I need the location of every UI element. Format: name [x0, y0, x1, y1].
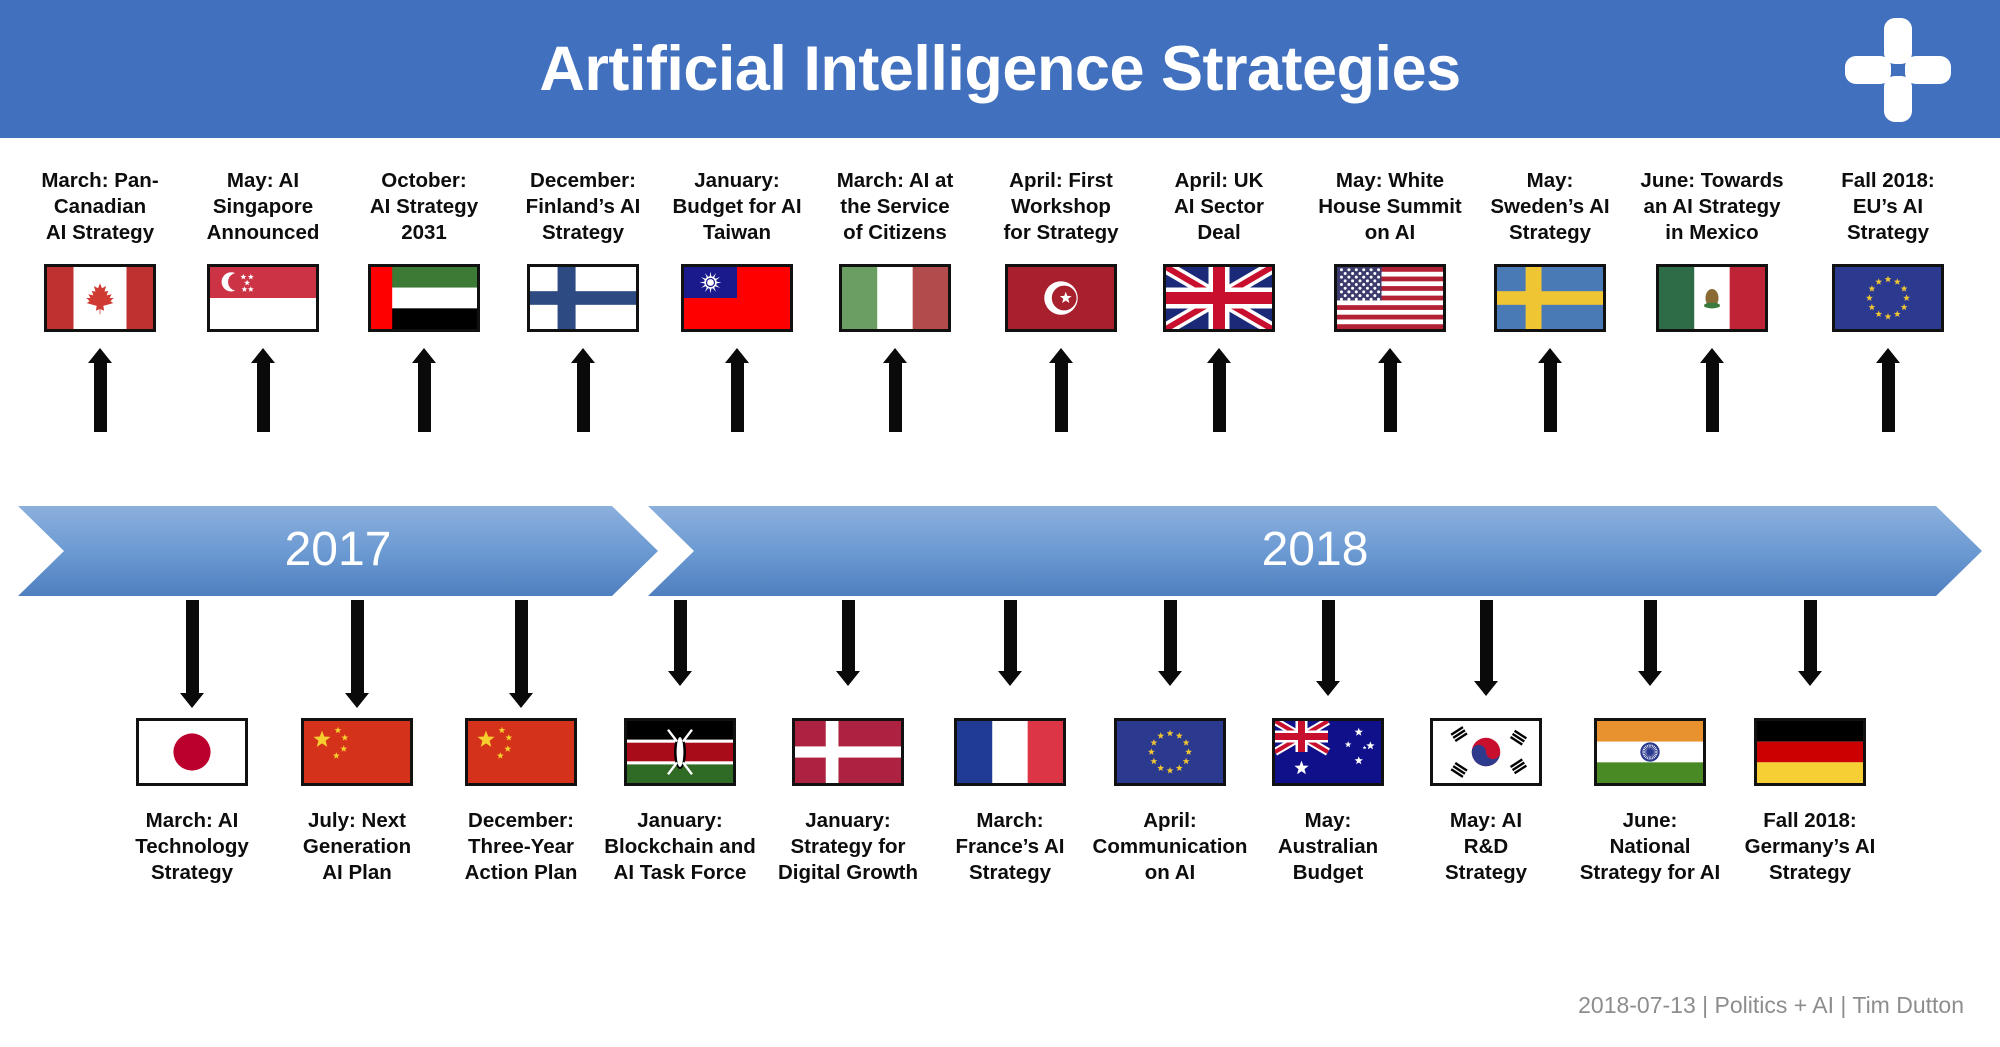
- flag-image-japan: [136, 718, 248, 786]
- arrow-up-icon: [1700, 348, 1724, 432]
- flag-canada: [44, 264, 156, 332]
- arrow-down-icon: [836, 600, 860, 686]
- event-label: April: UK AI Sector Deal: [1135, 168, 1303, 247]
- flag-image-canada: [44, 264, 156, 332]
- event-label: January: Budget for AI Taiwan: [653, 168, 821, 247]
- arrow-up-icon: [725, 348, 749, 432]
- flag-image-france: [954, 718, 1066, 786]
- flag-image-kenya: [624, 718, 736, 786]
- arrow-up-icon: [1049, 348, 1073, 432]
- flag-image-singapore: [207, 264, 319, 332]
- flag-image-india: [1594, 718, 1706, 786]
- arrow-up-icon: [1538, 348, 1562, 432]
- event-label: March: AI Technology Strategy: [108, 808, 276, 887]
- arrow-up-icon: [251, 348, 275, 432]
- event-label: April: Communication on AI: [1086, 808, 1254, 887]
- flag-tunisia: [1005, 264, 1117, 332]
- event-label: April: First Workshop for Strategy: [977, 168, 1145, 247]
- flag-image-taiwan: [681, 264, 793, 332]
- arrow-up-icon: [883, 348, 907, 432]
- arrow-down-icon: [998, 600, 1022, 686]
- event-label: May: Australian Budget: [1244, 808, 1412, 887]
- arrow-up-icon: [88, 348, 112, 432]
- event-label: July: Next Generation AI Plan: [273, 808, 441, 887]
- event-label: December: Finland’s AI Strategy: [499, 168, 667, 247]
- arrow-up-icon: [1876, 348, 1900, 432]
- flag-france: [954, 718, 1066, 786]
- flag-image-tunisia: [1005, 264, 1117, 332]
- timeline-segment-2018-label: 2018: [1262, 522, 1369, 577]
- event-label: March: Pan- Canadian AI Strategy: [16, 168, 184, 247]
- event-label: May: AI Singapore Announced: [179, 168, 347, 247]
- arrow-down-icon: [509, 600, 533, 708]
- footer-credit: 2018-07-13 | Politics + AI | Tim Dutton: [1578, 992, 1964, 1019]
- timeline-segment-2017-label: 2017: [285, 522, 392, 577]
- flag-image-china: [465, 718, 577, 786]
- flag-image-uae: [368, 264, 480, 332]
- flag-eu: [1114, 718, 1226, 786]
- flag-taiwan: [681, 264, 793, 332]
- event-label: March: AI at the Service of Citizens: [811, 168, 979, 247]
- flag-india: [1594, 718, 1706, 786]
- timeline-bar: 2017 2018: [0, 506, 2000, 596]
- flag-eu: [1832, 264, 1944, 332]
- flag-usa: [1334, 264, 1446, 332]
- flag-uk: [1163, 264, 1275, 332]
- flag-japan: [136, 718, 248, 786]
- event-label: January: Blockchain and AI Task Force: [596, 808, 764, 887]
- flag-germany: [1754, 718, 1866, 786]
- flag-image-denmark: [792, 718, 904, 786]
- events-above-row: March: Pan- Canadian AI Strategy May: AI…: [0, 168, 2000, 498]
- flag-image-germany: [1754, 718, 1866, 786]
- event-label: May: White House Summit on AI: [1306, 168, 1474, 247]
- flag-image-southkorea: [1430, 718, 1542, 786]
- arrow-up-icon: [1378, 348, 1402, 432]
- flag-image-uk: [1163, 264, 1275, 332]
- arrow-up-icon: [1207, 348, 1231, 432]
- flag-image-eu: [1832, 264, 1944, 332]
- arrow-down-icon: [1474, 600, 1498, 696]
- flag-finland: [527, 264, 639, 332]
- flag-image-mexico: [1656, 264, 1768, 332]
- arrow-down-icon: [1798, 600, 1822, 686]
- flag-image-sweden: [1494, 264, 1606, 332]
- flag-kenya: [624, 718, 736, 786]
- arrow-down-icon: [1638, 600, 1662, 686]
- timeline-segment-2017: 2017: [18, 506, 658, 596]
- flag-image-australia: [1272, 718, 1384, 786]
- arrow-down-icon: [1158, 600, 1182, 686]
- arrow-down-icon: [1316, 600, 1340, 696]
- event-label: May: AI R&D Strategy: [1402, 808, 1570, 887]
- header-banner: Artificial Intelligence Strategies: [0, 0, 2000, 138]
- flag-china: [301, 718, 413, 786]
- events-below-row: March: AI Technology Strategy July: Next…: [0, 600, 2000, 940]
- flag-china: [465, 718, 577, 786]
- timeline-segment-2018: 2018: [648, 506, 1982, 596]
- event-label: December: Three-Year Action Plan: [437, 808, 605, 887]
- event-label: May: Sweden’s AI Strategy: [1466, 168, 1634, 247]
- flag-image-usa: [1334, 264, 1446, 332]
- flag-italy: [839, 264, 951, 332]
- arrow-down-icon: [345, 600, 369, 708]
- flag-image-china: [301, 718, 413, 786]
- infographic-canvas: Artificial Intelligence Strategies 2017 …: [0, 0, 2000, 1047]
- arrow-down-icon: [668, 600, 692, 686]
- event-label: Fall 2018: Germany’s AI Strategy: [1726, 808, 1894, 887]
- flag-sweden: [1494, 264, 1606, 332]
- flag-denmark: [792, 718, 904, 786]
- event-label: March: France’s AI Strategy: [926, 808, 1094, 887]
- event-label: Fall 2018: EU’s AI Strategy: [1804, 168, 1972, 247]
- flag-image-finland: [527, 264, 639, 332]
- flag-image-eu: [1114, 718, 1226, 786]
- flag-image-italy: [839, 264, 951, 332]
- event-label: June: Towards an AI Strategy in Mexico: [1628, 168, 1796, 247]
- event-label: January: Strategy for Digital Growth: [764, 808, 932, 887]
- arrow-up-icon: [412, 348, 436, 432]
- arrow-down-icon: [180, 600, 204, 708]
- flag-mexico: [1656, 264, 1768, 332]
- event-label: October: AI Strategy 2031: [340, 168, 508, 247]
- flag-australia: [1272, 718, 1384, 786]
- flag-southkorea: [1430, 718, 1542, 786]
- event-label: June: National Strategy for AI: [1566, 808, 1734, 887]
- plus-cross-logo: [1844, 16, 1952, 124]
- flag-uae: [368, 264, 480, 332]
- arrow-up-icon: [571, 348, 595, 432]
- page-title: Artificial Intelligence Strategies: [0, 0, 2000, 138]
- flag-singapore: [207, 264, 319, 332]
